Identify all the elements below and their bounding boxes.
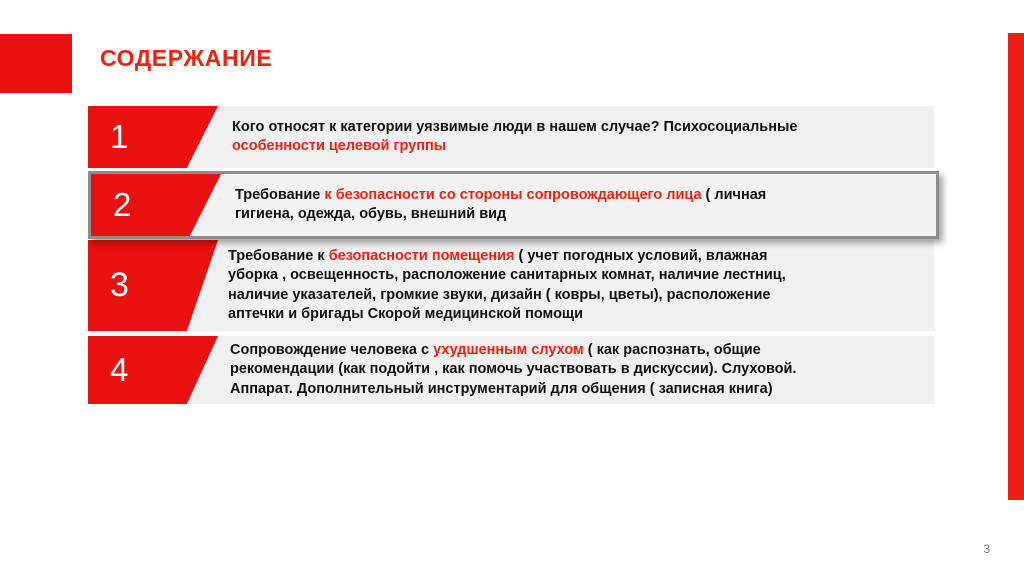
agenda-text-line: Требование к безопасности со стороны соп… <box>235 186 924 205</box>
agenda-text-highlight: к безопасности со стороны сопровождающег… <box>324 187 701 203</box>
agenda-text-segment: ( учет погодных условий, влажная <box>514 248 767 264</box>
agenda-list: 1 Кого относят к категории уязвимые люди… <box>88 106 934 404</box>
agenda-text-segment: ( как распознать, общие <box>584 342 761 358</box>
corner-accent-block <box>0 34 72 93</box>
agenda-text-segment: Требование к <box>228 248 329 264</box>
agenda-text-segment: Сопровождение человека с <box>230 342 433 358</box>
agenda-text-line: уборка , освещенность, расположение сани… <box>228 266 922 285</box>
agenda-text-highlight: особенности целевой группы <box>232 138 446 154</box>
agenda-text-segment: Аппарат. Дополнительный инструментарий д… <box>230 381 773 397</box>
agenda-text-segment: наличие указателей, громкие звуки, дизай… <box>228 287 770 303</box>
agenda-text-segment: уборка , освещенность, расположение сани… <box>228 267 786 283</box>
agenda-row-text: Требование к безопасности помещения ( уч… <box>218 240 934 331</box>
agenda-text-line: Кого относят к категории уязвимые люди в… <box>232 118 922 137</box>
agenda-text-line: особенности целевой группы <box>232 137 922 156</box>
agenda-row-1[interactable]: 1 Кого относят к категории уязвимые люди… <box>88 106 934 168</box>
agenda-number-badge: 1 <box>88 106 218 168</box>
agenda-text-segment: рекомендации (как подойти , как помочь у… <box>230 361 796 377</box>
page-number: 3 <box>983 542 990 556</box>
agenda-number-badge: 3 <box>88 240 218 331</box>
agenda-text-highlight: безопасности помещения <box>329 248 515 264</box>
agenda-text-line: рекомендации (как подойти , как помочь у… <box>230 360 922 379</box>
agenda-text-segment: ( личная <box>702 187 767 203</box>
agenda-text-line: гигиена, одежда, обувь, внешний вид <box>235 205 924 224</box>
agenda-text-line: Требование к безопасности помещения ( уч… <box>228 247 922 266</box>
page-title: СОДЕРЖАНИЕ <box>100 47 272 70</box>
agenda-row-text: Сопровождение человека с ухудшенным слух… <box>218 336 934 404</box>
agenda-number-badge: 4 <box>88 336 218 404</box>
agenda-row-text: Требование к безопасности со стороны соп… <box>221 174 936 236</box>
agenda-text-line: наличие указателей, громкие звуки, дизай… <box>228 286 922 305</box>
agenda-text-segment: аптечки и бригады Скорой медицинской пом… <box>228 306 583 322</box>
agenda-text-segment: Требование <box>235 187 324 203</box>
agenda-text-line: Сопровождение человека с ухудшенным слух… <box>230 341 922 360</box>
agenda-row-3[interactable]: 3Требование к безопасности помещения ( у… <box>88 240 934 331</box>
agenda-row-4[interactable]: 4 Сопровождение человека с ухудшенным сл… <box>88 336 934 404</box>
agenda-text-line: Аппарат. Дополнительный инструментарий д… <box>230 380 922 399</box>
agenda-row-2[interactable]: 2Требование к безопасности со стороны со… <box>88 171 939 239</box>
agenda-number-badge: 2 <box>91 174 221 236</box>
agenda-text-highlight: ухудшенным слухом <box>433 342 584 358</box>
right-edge-accent-bar <box>1008 33 1024 500</box>
agenda-text-segment: Кого относят к категории уязвимые люди в… <box>232 119 797 135</box>
agenda-text-segment: гигиена, одежда, обувь, внешний вид <box>235 206 506 222</box>
agenda-text-line: аптечки и бригады Скорой медицинской пом… <box>228 305 922 324</box>
agenda-row-text: Кого относят к категории уязвимые люди в… <box>218 106 934 168</box>
